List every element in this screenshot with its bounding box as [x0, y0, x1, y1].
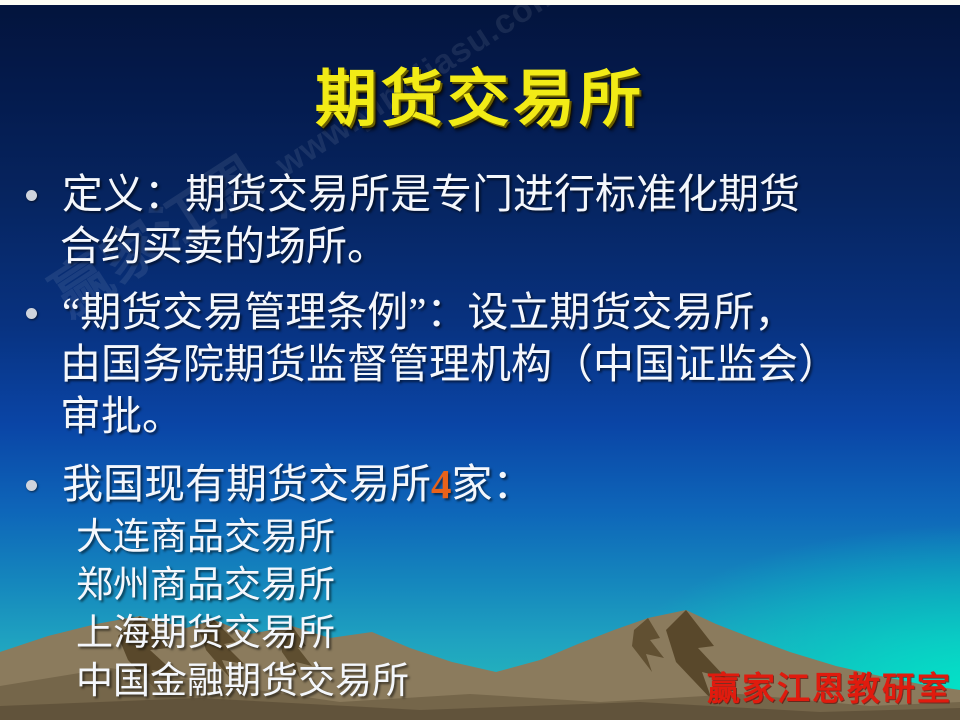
- bullet-1-line-1: 定义：期货交易所是专门进行标准化期货: [62, 171, 800, 217]
- bullet-item-definition: 定义：期货交易所是专门进行标准化期货 合约买卖的场所。: [0, 168, 960, 272]
- bullet-2-line-1: “期货交易管理条例”：设立期货交易所，: [62, 289, 795, 335]
- exchange-list-item: 郑州商品交易所: [76, 562, 960, 610]
- bullet-3-prefix: 我国现有期货交易所: [62, 461, 431, 507]
- exchange-count-highlight: 4: [431, 461, 452, 507]
- bullet-item-exchange-count: 我国现有期货交易所4家：: [0, 458, 960, 510]
- bullet-dot-icon: [26, 308, 37, 319]
- bullet-item-regulation: “期货交易管理条例”：设立期货交易所， 由国务院期货监督管理机构（中国证监会） …: [0, 286, 960, 442]
- bullet-dot-icon: [26, 480, 37, 491]
- bullet-2-line-2: 由国务院期货监督管理机构（中国证监会）: [60, 338, 960, 390]
- slide-title: 期货交易所: [0, 48, 960, 138]
- bullet-1-line-2: 合约买卖的场所。: [60, 220, 960, 272]
- exchange-list-item: 大连商品交易所: [76, 514, 960, 562]
- bullet-2-line-3: 审批。: [60, 390, 960, 442]
- bottom-right-watermark: 赢家江恩教研室: [707, 662, 952, 710]
- slide-body: 定义：期货交易所是专门进行标准化期货 合约买卖的场所。 “期货交易管理条例”：设…: [0, 168, 960, 720]
- bullet-dot-icon: [26, 190, 37, 201]
- presentation-slide: 赢家江恩 www.yingjiasu.com 期货交易所 定义：期货交易所是专门…: [0, 0, 960, 720]
- bullet-3-suffix: 家：: [452, 461, 534, 507]
- exchange-list-item: 上海期货交易所: [76, 610, 960, 658]
- top-edge-strip: [0, 0, 960, 5]
